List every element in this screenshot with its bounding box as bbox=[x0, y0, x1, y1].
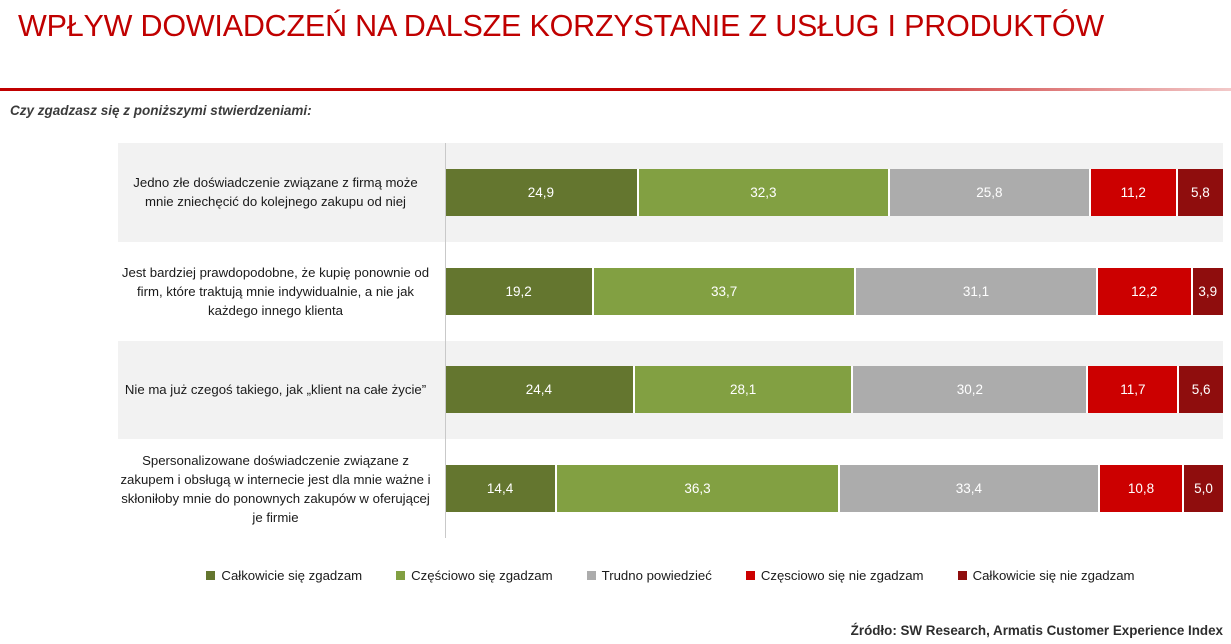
chart-row: Jest bardziej prawdopodobne, że kupię po… bbox=[118, 242, 1223, 341]
legend-item[interactable]: Częsciowo się nie zgadzam bbox=[746, 568, 924, 583]
chart-row: Spersonalizowane doświadczenie związane … bbox=[118, 439, 1223, 538]
legend-label: Częściowo się zgadzam bbox=[411, 568, 552, 583]
bar-track: 24,428,130,211,75,6 bbox=[445, 341, 1223, 440]
category-label: Spersonalizowane doświadczenie związane … bbox=[118, 451, 445, 527]
bar-track: 19,233,731,112,23,9 bbox=[445, 242, 1223, 341]
bar-segment[interactable]: 24,9 bbox=[445, 169, 639, 216]
bar-segment[interactable]: 10,8 bbox=[1100, 465, 1184, 512]
chart-row: Jedno złe doświadczenie związane z firmą… bbox=[118, 143, 1223, 242]
bar-segment[interactable]: 28,1 bbox=[635, 366, 854, 413]
category-axis-line bbox=[445, 143, 446, 538]
bar-segment[interactable]: 11,7 bbox=[1088, 366, 1179, 413]
legend-item[interactable]: Całkowicie się zgadzam bbox=[206, 568, 362, 583]
bar-segment[interactable]: 11,2 bbox=[1091, 169, 1178, 216]
source-note: Źródło: SW Research, Armatis Customer Ex… bbox=[851, 623, 1223, 638]
legend-label: Całkowicie się nie zgadzam bbox=[973, 568, 1135, 583]
slide: WPŁYW DOWIADCZEŃ NA DALSZE KORZYSTANIE Z… bbox=[0, 0, 1231, 644]
legend-swatch-icon bbox=[396, 571, 405, 580]
bar-segment[interactable]: 24,4 bbox=[445, 366, 635, 413]
bar-segment[interactable]: 19,2 bbox=[445, 268, 594, 315]
chart-row: Nie ma już czegoś takiego, jak „klient n… bbox=[118, 341, 1223, 440]
legend-swatch-icon bbox=[746, 571, 755, 580]
stacked-bar: 24,428,130,211,75,6 bbox=[445, 366, 1223, 413]
legend-label: Trudno powiedzieć bbox=[602, 568, 712, 583]
legend-swatch-icon bbox=[206, 571, 215, 580]
bar-segment[interactable]: 33,7 bbox=[594, 268, 856, 315]
bar-segment[interactable]: 3,9 bbox=[1193, 268, 1223, 315]
stacked-bar: 14,436,333,410,85,0 bbox=[445, 465, 1223, 512]
bar-segment[interactable]: 32,3 bbox=[639, 169, 890, 216]
legend-label: Częsciowo się nie zgadzam bbox=[761, 568, 924, 583]
stacked-bar: 19,233,731,112,23,9 bbox=[445, 268, 1223, 315]
subtitle: Czy zgadzasz się z poniższymi stwierdzen… bbox=[10, 103, 312, 118]
category-label: Jest bardziej prawdopodobne, że kupię po… bbox=[118, 263, 445, 320]
chart-legend: Całkowicie się zgadzamCzęściowo się zgad… bbox=[118, 568, 1223, 583]
category-label: Jedno złe doświadczenie związane z firmą… bbox=[118, 173, 445, 211]
bar-segment[interactable]: 36,3 bbox=[557, 465, 840, 512]
bar-segment[interactable]: 33,4 bbox=[840, 465, 1100, 512]
legend-item[interactable]: Całkowicie się nie zgadzam bbox=[958, 568, 1135, 583]
legend-swatch-icon bbox=[587, 571, 596, 580]
category-label: Nie ma już czegoś takiego, jak „klient n… bbox=[118, 380, 445, 399]
bar-segment[interactable]: 14,4 bbox=[445, 465, 557, 512]
page-title: WPŁYW DOWIADCZEŃ NA DALSZE KORZYSTANIE Z… bbox=[18, 4, 1208, 48]
bar-segment[interactable]: 25,8 bbox=[890, 169, 1091, 216]
chart-rows: Jedno złe doświadczenie związane z firmą… bbox=[118, 143, 1223, 538]
legend-item[interactable]: Częściowo się zgadzam bbox=[396, 568, 552, 583]
legend-item[interactable]: Trudno powiedzieć bbox=[587, 568, 712, 583]
legend-label: Całkowicie się zgadzam bbox=[221, 568, 362, 583]
title-divider bbox=[0, 88, 1231, 91]
bar-segment[interactable]: 30,2 bbox=[853, 366, 1088, 413]
bar-segment[interactable]: 5,6 bbox=[1179, 366, 1223, 413]
bar-segment[interactable]: 31,1 bbox=[856, 268, 1098, 315]
bar-track: 24,932,325,811,25,8 bbox=[445, 143, 1223, 242]
stacked-bar-chart: Jedno złe doświadczenie związane z firmą… bbox=[118, 143, 1223, 538]
bar-track: 14,436,333,410,85,0 bbox=[445, 439, 1223, 538]
stacked-bar: 24,932,325,811,25,8 bbox=[445, 169, 1223, 216]
bar-segment[interactable]: 5,8 bbox=[1178, 169, 1223, 216]
bar-segment[interactable]: 5,0 bbox=[1184, 465, 1223, 512]
legend-swatch-icon bbox=[958, 571, 967, 580]
bar-segment[interactable]: 12,2 bbox=[1098, 268, 1193, 315]
